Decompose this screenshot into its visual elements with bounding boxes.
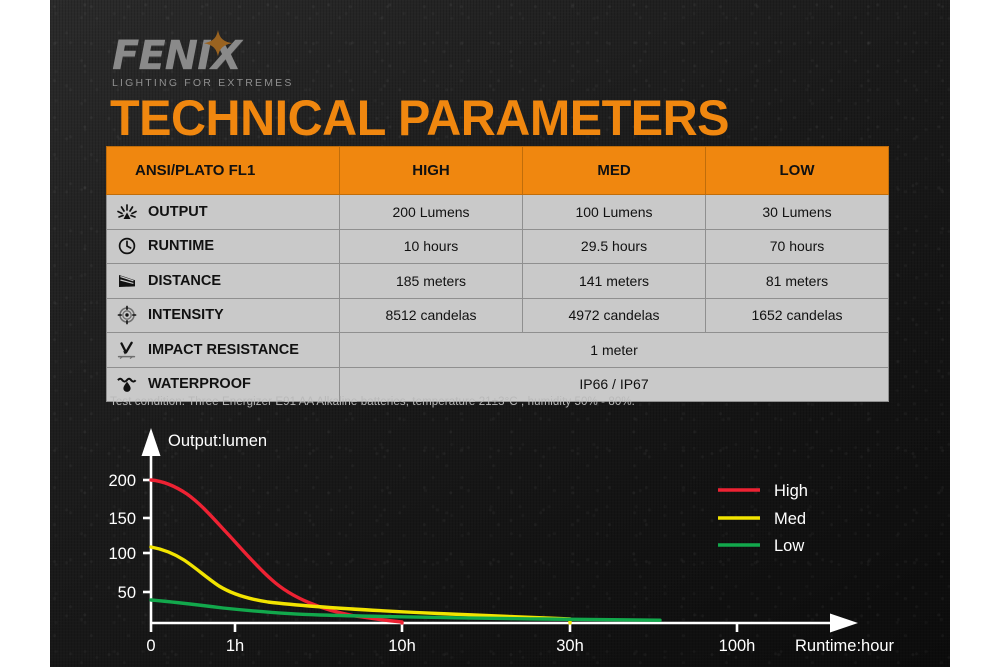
cell-output-med: 100 Lumens [523, 195, 706, 230]
brand-tagline: LIGHTING FOR EXTREMES [112, 77, 332, 89]
clock-icon [115, 236, 139, 256]
row-label-impact: IMPACT RESISTANCE [107, 333, 340, 368]
page-title: TECHNICAL PARAMETERS [110, 92, 729, 144]
x-tick-0: 0 [146, 637, 155, 655]
legend-label-low: Low [774, 537, 804, 555]
table-header-row: ANSI/PLATO FL1 HIGH MED LOW [107, 147, 889, 195]
row-label-runtime: RUNTIME [107, 229, 340, 264]
table-row: INTENSITY 8512 candelas 4972 candelas 16… [107, 298, 889, 333]
series-med-line [151, 547, 570, 623]
light-burst-icon [115, 202, 139, 222]
col-header-ansi: ANSI/PLATO FL1 [107, 147, 340, 195]
cell-intensity-med: 4972 candelas [523, 298, 706, 333]
row-label-text: DISTANCE [148, 273, 221, 289]
cell-distance-med: 141 meters [523, 264, 706, 299]
x-tick-labels: 0 1h 10h 30h 100h [146, 637, 755, 655]
cell-distance-low: 81 meters [706, 264, 889, 299]
water-drop-icon [115, 374, 139, 394]
row-label-intensity: INTENSITY [107, 298, 340, 333]
y-tick-50: 50 [118, 584, 136, 602]
screenshot-root: FENIX LIGHTING FOR EXTREMES TECHNICAL PA… [0, 0, 1000, 667]
y-tick-100: 100 [108, 545, 136, 563]
cell-runtime-high: 10 hours [340, 229, 523, 264]
x-tick-30h: 30h [556, 637, 584, 655]
row-label-text: RUNTIME [148, 238, 214, 254]
x-tick-100h: 100h [719, 637, 756, 655]
cell-output-high: 200 Lumens [340, 195, 523, 230]
x-tick-10h: 10h [388, 637, 416, 655]
y-axis-title: Output:lumen [168, 432, 267, 450]
cell-intensity-low: 1652 candelas [706, 298, 889, 333]
x-axis-title: Runtime:hour [795, 637, 895, 655]
y-tick-200: 200 [108, 472, 136, 490]
y-axis [142, 428, 161, 623]
cell-runtime-med: 29.5 hours [523, 229, 706, 264]
legend-label-high: High [774, 482, 808, 500]
y-tick-150: 150 [108, 510, 136, 528]
brand-logo: FENIX LIGHTING FOR EXTREMES [112, 36, 332, 86]
row-label-text: OUTPUT [148, 204, 208, 220]
legend-label-med: Med [774, 510, 806, 528]
table-row: IMPACT RESISTANCE 1 meter [107, 333, 889, 368]
col-header-low: LOW [706, 147, 889, 195]
table-row: RUNTIME 10 hours 29.5 hours 70 hours [107, 229, 889, 264]
series-low-line [151, 600, 660, 620]
row-label-text: IMPACT RESISTANCE [148, 342, 299, 358]
runtime-chart-svg: 200 150 100 50 0 1h 10h 30h 100h Output:… [0, 420, 1000, 667]
chart-legend: High Med Low [718, 482, 808, 555]
cell-output-low: 30 Lumens [706, 195, 889, 230]
col-header-high: HIGH [340, 147, 523, 195]
col-header-med: MED [523, 147, 706, 195]
table-row: DISTANCE 185 meters 141 meters 81 meters [107, 264, 889, 299]
impact-arrow-icon [115, 340, 139, 360]
row-label-text: INTENSITY [148, 307, 224, 323]
table-row: OUTPUT 200 Lumens 100 Lumens 30 Lumens [107, 195, 889, 230]
cell-intensity-high: 8512 candelas [340, 298, 523, 333]
x-tick-1h: 1h [226, 637, 244, 655]
cell-runtime-low: 70 hours [706, 229, 889, 264]
runtime-chart: 200 150 100 50 0 1h 10h 30h 100h Output:… [0, 420, 1000, 667]
four-point-star-icon [204, 30, 232, 58]
cell-impact-all: 1 meter [340, 333, 889, 368]
spec-table: ANSI/PLATO FL1 HIGH MED LOW [106, 146, 889, 402]
row-label-output: OUTPUT [107, 195, 340, 230]
row-label-distance: DISTANCE [107, 264, 340, 299]
beam-distance-icon [115, 271, 139, 291]
cell-distance-high: 185 meters [340, 264, 523, 299]
row-label-text: WATERPROOF [148, 376, 251, 392]
test-condition-note: Test condition: Three Energizer E91 AA A… [110, 396, 635, 408]
target-icon [115, 305, 139, 325]
y-tick-labels: 200 150 100 50 [108, 472, 136, 602]
